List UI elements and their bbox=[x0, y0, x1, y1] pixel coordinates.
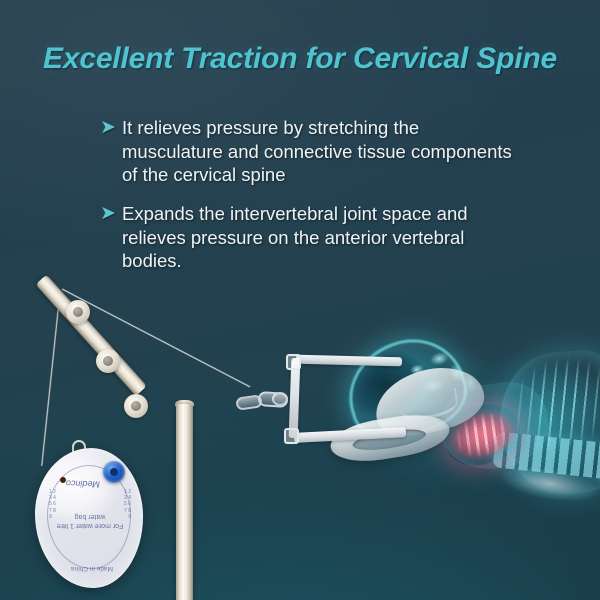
xray-mandible bbox=[398, 388, 459, 422]
chin-pad bbox=[328, 409, 453, 467]
halter-strap-left bbox=[289, 358, 301, 438]
xray-skull bbox=[334, 325, 476, 450]
product-illustration: Medinco For more water 1 litre water bag… bbox=[0, 0, 600, 600]
slide-canvas: Excellent Traction for Cervical Spine ➤ … bbox=[0, 0, 600, 600]
page-title: Excellent Traction for Cervical Spine bbox=[0, 42, 600, 76]
xray-neck bbox=[435, 378, 552, 475]
arrow-bullet-icon: ➤ bbox=[100, 204, 122, 223]
bullet-text: It relieves pressure by stretching the m… bbox=[122, 116, 514, 187]
halter-clip-lower bbox=[284, 428, 299, 444]
bag-valve-dot bbox=[60, 477, 66, 483]
traction-cable-diagonal bbox=[62, 288, 251, 388]
pole-cap bbox=[175, 400, 194, 409]
halter-strap-top bbox=[296, 355, 402, 367]
xray-glow bbox=[300, 320, 600, 520]
halter-ring bbox=[272, 392, 288, 406]
xray-thoracic-spine bbox=[492, 431, 600, 480]
water-weight-bag: Medinco For more water 1 litre water bag… bbox=[35, 448, 143, 588]
bag-fill-cap bbox=[103, 461, 125, 483]
inflamed-cervical-spine bbox=[438, 398, 526, 473]
traction-arm bbox=[35, 274, 147, 396]
head-halter-frame bbox=[286, 352, 416, 462]
list-item: ➤ Expands the intervertebral joint space… bbox=[100, 202, 520, 273]
bullet-list: ➤ It relieves pressure by stretching the… bbox=[100, 116, 520, 288]
halter-clip-upper bbox=[286, 354, 301, 370]
bag-scale-left: 1 2 3 4 5 6 7 8 9 bbox=[49, 489, 59, 551]
carabiner-link-inner bbox=[258, 391, 289, 408]
bag-center-text: For more water 1 litre water bag bbox=[50, 511, 130, 530]
bag-scale-right: 1 2 3 4 5 6 7 8 9 bbox=[121, 489, 131, 551]
bag-bottom-text: Made in China bbox=[66, 565, 118, 572]
traction-cable-vertical bbox=[41, 292, 61, 466]
arrow-bullet-icon: ➤ bbox=[100, 118, 122, 137]
carabiner-link-outer bbox=[235, 394, 263, 410]
bag-inner-outline bbox=[47, 465, 131, 569]
halter-strap-bottom bbox=[294, 427, 406, 443]
list-item: ➤ It relieves pressure by stretching the… bbox=[100, 116, 520, 187]
arm-joint-middle bbox=[96, 349, 120, 373]
bag-brand-logo: Medinco bbox=[70, 472, 101, 489]
arm-joint-lower bbox=[124, 394, 148, 418]
cervical-vertebrae-bones bbox=[446, 403, 520, 467]
xray-ribcage bbox=[513, 348, 600, 460]
arm-joint-upper bbox=[66, 300, 90, 324]
occipital-pad bbox=[368, 358, 490, 445]
bullet-text: Expands the intervertebral joint space a… bbox=[122, 202, 514, 273]
xray-torso bbox=[494, 347, 600, 500]
support-pole bbox=[176, 404, 193, 600]
xray-limb-wisp bbox=[496, 462, 600, 512]
bag-hanger-hook bbox=[72, 440, 86, 452]
xray-skull-outline bbox=[336, 327, 475, 450]
xray-facial-bones bbox=[398, 337, 487, 416]
